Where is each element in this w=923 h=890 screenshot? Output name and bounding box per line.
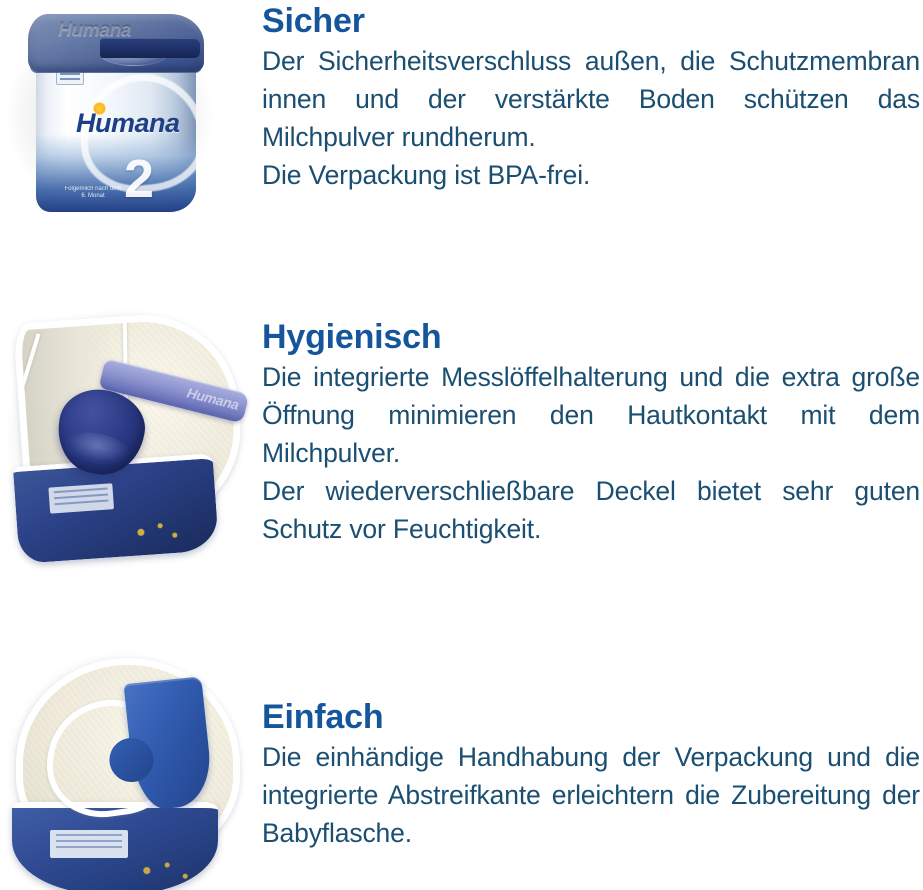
feature-text-hygienisch: Hygienisch Die integrierte Messlöffelhal… xyxy=(262,318,920,548)
label-info-box-icon xyxy=(50,830,128,858)
open-can xyxy=(12,652,234,886)
feature-paragraph: Die Verpackung ist BPA-frei. xyxy=(262,156,920,194)
feature-paragraph: Die integrierte Messlöffelhalterung und … xyxy=(262,358,920,472)
feature-paragraph: Die einhändige Handhabung der Verpackung… xyxy=(262,738,920,852)
open-can: Humana xyxy=(14,310,230,548)
sun-icon xyxy=(93,102,106,115)
feature-paragraph: Der Sicherheitsverschluss außen, die Sch… xyxy=(262,42,920,156)
humana-can-open-with-scoop-image: Humana xyxy=(0,300,250,580)
feature-heading-einfach: Einfach xyxy=(262,698,920,736)
can-stage-number: 2 xyxy=(124,152,154,206)
can-body: Humana 2 Folgemilch nach dem 6. Monat xyxy=(36,52,196,212)
feature-block-hygienisch: Humana Hygienisch Die integrierte Messlö… xyxy=(0,300,923,580)
feature-text-sicher: Sicher Der Sicherheitsverschluss außen, … xyxy=(262,2,920,194)
label-stars-icon xyxy=(136,858,196,886)
can-small-print: Folgemilch nach dem 6. Monat xyxy=(62,186,124,200)
can-brand-wordmark: Humana xyxy=(76,108,180,139)
feature-paragraph: Der wiederverschließbare Deckel bietet s… xyxy=(262,472,920,548)
feature-heading-sicher: Sicher xyxy=(262,2,920,40)
label-info-box-icon xyxy=(48,483,114,513)
feature-block-einfach: Einfach Die einhändige Handhabung der Ve… xyxy=(0,650,923,890)
feature-block-sicher: Humana 2 Folgemilch nach dem 6. Monat Hu… xyxy=(0,0,923,230)
label-stars-icon xyxy=(129,516,187,546)
humana-can-closed-image: Humana 2 Folgemilch nach dem 6. Monat Hu… xyxy=(0,0,250,230)
humana-can-scoop-holder-image xyxy=(0,650,250,890)
feature-list-page: Humana 2 Folgemilch nach dem 6. Monat Hu… xyxy=(0,0,923,880)
feature-heading-hygienisch: Hygienisch xyxy=(262,318,920,356)
feature-text-einfach: Einfach Die einhändige Handhabung der Ve… xyxy=(262,698,920,852)
safety-clasp xyxy=(100,38,200,58)
